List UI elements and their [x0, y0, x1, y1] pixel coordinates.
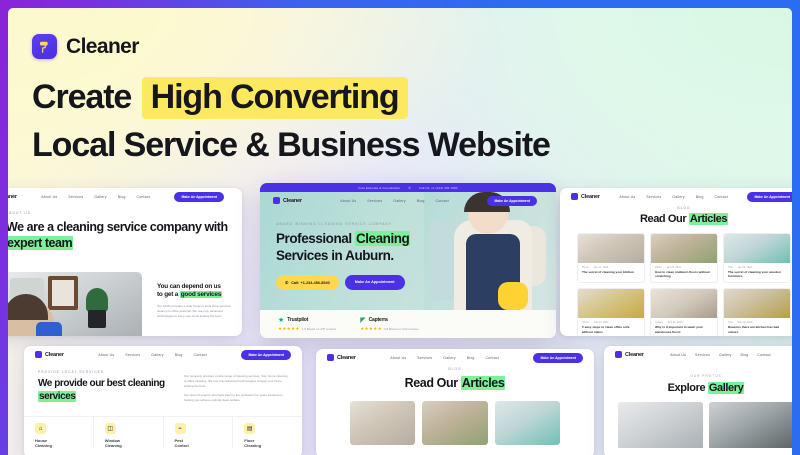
- mini-brand[interactable]: Cleaner: [327, 354, 356, 361]
- mini-nav: Cleaner About Us Services Gallery Blog C…: [560, 188, 792, 205]
- template-card-about[interactable]: Cleaner About Us Services Gallery Blog C…: [8, 188, 242, 336]
- mini-brand-name: Cleaner: [625, 352, 644, 358]
- blog-title: Read Our Articles: [560, 213, 792, 225]
- blog-title: Read Our Articles: [316, 376, 594, 390]
- template-card-gallery[interactable]: Cleaner About Us Services Gallery Blog C…: [604, 346, 792, 455]
- article-tag: Office: [655, 266, 661, 269]
- gallery-eyebrow: OUR PHOTOS: [604, 374, 792, 378]
- hero-section: Cleaner Create High Converting Local Ser…: [8, 8, 792, 183]
- nav-link-services[interactable]: Services: [646, 195, 661, 199]
- nav-link-services[interactable]: Services: [68, 195, 83, 199]
- nav-link-blog[interactable]: Blog: [740, 353, 748, 357]
- article-photo: [651, 289, 717, 318]
- appointment-button[interactable]: Make An Appointment: [174, 192, 224, 202]
- headline-highlight: High Converting: [142, 77, 408, 119]
- article-card[interactable]: OfficeJan 18, 2024 How to clean stubborn…: [650, 233, 718, 283]
- home-eyebrow: AWARD WINNING CLEANING SERVICE COMPANY: [276, 222, 446, 226]
- mini-topbar: Free Estimate & Consultation ✆ Call Us: …: [260, 183, 556, 192]
- services-body-1: Our company provides a wide range of cle…: [184, 374, 288, 389]
- depend-line-2-mark: good services: [180, 291, 222, 298]
- nav-link-blog[interactable]: Blog: [417, 199, 425, 203]
- star-icon: ★: [278, 317, 284, 324]
- about-eyebrow: ABOUT US: [8, 211, 242, 215]
- house-icon: ⌂: [35, 423, 46, 434]
- about-heading-block: ABOUT US We are a cleaning service compa…: [8, 205, 242, 251]
- gallery-title-mark: Gallery: [708, 382, 745, 394]
- review-badges: ★ Trustpilot ★★★★★ 4.9 Based on 475 revi…: [260, 310, 556, 338]
- nav-link-services[interactable]: Services: [695, 353, 710, 357]
- gallery-title: Explore Gallery: [604, 382, 792, 394]
- mini-brand[interactable]: Cleaner: [35, 351, 64, 358]
- mini-nav: Cleaner About Us Services Gallery Blog C…: [260, 192, 556, 209]
- capterra-name: Capterra: [369, 317, 388, 323]
- services-title-mark: services: [38, 391, 76, 402]
- home-title-pre: Professional: [276, 231, 355, 246]
- depend-line-2: to get a good services: [157, 291, 233, 299]
- paint-roller-icon: [273, 197, 280, 204]
- gallery-grid: [604, 402, 792, 448]
- nav-link-about[interactable]: About Us: [390, 356, 406, 360]
- brand-name: Cleaner: [66, 35, 139, 59]
- article-photo: [495, 401, 560, 445]
- blog-eyebrow: BLOG: [316, 367, 594, 371]
- mini-brand[interactable]: Cleaner: [273, 197, 302, 204]
- about-photo: [8, 272, 142, 336]
- about-title-pre: We are a cleaning service company with: [8, 220, 228, 234]
- about-title-mark: expert team: [8, 236, 73, 250]
- article-date: Jan 18, 2024: [666, 266, 680, 269]
- headline-pre: Create: [32, 78, 131, 116]
- depend-line-1: You can depend on us: [157, 283, 233, 291]
- mini-nav-links: About Us Services Gallery Blog Contact: [670, 353, 771, 357]
- template-card-services[interactable]: Cleaner About Us Services Gallery Blog C…: [24, 346, 302, 455]
- template-preview-grid: Cleaner About Us Services Gallery Blog C…: [8, 183, 792, 455]
- nav-link-contact[interactable]: Contact: [486, 356, 499, 360]
- gallery-photo[interactable]: [618, 402, 703, 448]
- nav-link-contact[interactable]: Contact: [436, 199, 449, 203]
- article-tag: Home: [582, 266, 589, 269]
- appointment-button[interactable]: Make An Appointment: [747, 192, 792, 202]
- article-headline: Reasons there are kitchen has bad odours: [724, 324, 790, 336]
- topbar-note: Free Estimate & Consultation: [358, 186, 400, 190]
- page-canvas: Cleaner Create High Converting Local Ser…: [8, 8, 792, 455]
- paint-roller-icon: [327, 354, 334, 361]
- service-name: FloorCleaning: [244, 438, 302, 449]
- nav-link-gallery[interactable]: Gallery: [151, 353, 163, 357]
- template-card-home[interactable]: Free Estimate & Consultation ✆ Call Us: …: [260, 183, 556, 338]
- article-date: Feb 11, 2024: [668, 321, 683, 324]
- service-item[interactable]: ⌂ HouseCleaning: [24, 417, 94, 449]
- article-tag: Tips: [728, 321, 733, 324]
- capterra-badge: ◤ Capterra ★★★★★ 4.8 Based on 310 review…: [360, 317, 418, 332]
- blog-title-mark: Articles: [689, 213, 728, 225]
- service-name: PestControl: [175, 438, 233, 449]
- nav-link-about[interactable]: About Us: [41, 195, 57, 199]
- mini-nav: Cleaner About Us Services Gallery Blog C…: [24, 346, 302, 363]
- mini-nav-links: About Us Services Gallery Blog Contact: [390, 356, 499, 360]
- mini-brand-name: Cleaner: [45, 352, 64, 358]
- mini-nav-links: About Us Services Gallery Blog Contact: [98, 353, 207, 357]
- article-tag: Home: [582, 321, 589, 324]
- article-photo: [724, 289, 790, 318]
- paint-roller-icon: [32, 34, 57, 59]
- article-photo: [578, 234, 644, 263]
- service-item[interactable]: ⌁ PestControl: [164, 417, 234, 449]
- nav-link-services[interactable]: Services: [367, 199, 382, 203]
- nav-link-gallery[interactable]: Gallery: [393, 199, 405, 203]
- nav-link-contact[interactable]: Contact: [194, 353, 207, 357]
- gallery-photo[interactable]: [709, 402, 792, 448]
- mini-brand-name: Cleaner: [581, 194, 600, 200]
- about-title: We are a cleaning service company with e…: [8, 219, 242, 251]
- nav-link-gallery[interactable]: Gallery: [443, 356, 455, 360]
- nav-link-contact[interactable]: Contact: [137, 195, 150, 199]
- template-card-blog-right[interactable]: Cleaner About Us Services Gallery Blog C…: [560, 188, 792, 336]
- floor-icon: ▤: [244, 423, 255, 434]
- article-date: Feb 02, 2024: [594, 321, 609, 324]
- services-body-2: Our team of experts who have been in the…: [184, 393, 288, 403]
- mini-brand[interactable]: Cleaner: [8, 193, 17, 200]
- article-headline: The secret of cleaning your kitchen: [578, 269, 644, 278]
- home-title-mark: Cleaning: [355, 231, 410, 246]
- appointment-button[interactable]: Make An Appointment: [487, 196, 537, 206]
- nav-link-gallery[interactable]: Gallery: [94, 195, 106, 199]
- article-photo: [350, 401, 415, 445]
- mini-brand[interactable]: Cleaner: [615, 351, 644, 358]
- article-headline: 5 easy steps to clean office sofa withou…: [578, 324, 644, 336]
- home-title: Professional Cleaning Services in Auburn…: [276, 231, 446, 264]
- nav-link-contact[interactable]: Contact: [715, 195, 728, 199]
- home-hero-copy: AWARD WINNING CLEANING SERVICE COMPANY P…: [276, 222, 446, 290]
- blog-title-pre: Read Our: [405, 376, 461, 390]
- nav-link-blog[interactable]: Blog: [175, 353, 183, 357]
- nav-link-blog[interactable]: Blog: [467, 356, 475, 360]
- home-cta-row: ✆ Call: +1-234-456-8940 Make An Appointm…: [276, 275, 446, 290]
- trustpilot-name: Trustpilot: [287, 317, 308, 323]
- service-list: ⌂ HouseCleaning ◫ WindowCleaning ⌁: [24, 416, 302, 449]
- article-tag: Tips: [728, 266, 733, 269]
- article-card[interactable]: [495, 401, 560, 445]
- mini-nav: Cleaner About Us Services Gallery Blog C…: [316, 349, 594, 366]
- services-title: We provide our best cleaning services: [38, 378, 170, 403]
- services-intro: PROVIDE LOCAL SERVICES We provide our be…: [24, 363, 302, 407]
- call-button-label: Call: +1-234-456-8940: [291, 281, 330, 285]
- article-grid: HomeJan 12, 2024 The secret of cleaning …: [560, 233, 792, 336]
- depend-line-2-pre: to get a: [157, 291, 180, 298]
- article-card[interactable]: GuidesFeb 11, 2024 Why is it important t…: [650, 288, 718, 336]
- depend-body: Our 100% provides a wide range of local …: [157, 304, 233, 319]
- topbar-phone: Call Us: +1 (123) 456-7890: [419, 186, 458, 190]
- capterra-rating: 4.8 Based on 310 reviews: [384, 327, 419, 331]
- capterra-stars: ★★★★★: [360, 326, 382, 332]
- paint-roller-icon: [35, 351, 42, 358]
- paint-roller-icon: [571, 193, 578, 200]
- gradient-frame: Cleaner Create High Converting Local Ser…: [0, 0, 800, 455]
- spray-icon: ⌁: [175, 423, 186, 434]
- mini-nav-links: About Us Services Gallery Blog Contact: [619, 195, 728, 199]
- nav-link-about[interactable]: About Us: [340, 199, 356, 203]
- trustpilot-rating: 4.9 Based on 475 reviews: [302, 327, 337, 331]
- nav-link-about[interactable]: About Us: [98, 353, 114, 357]
- hero-headline: Create High Converting Local Service & B…: [32, 76, 772, 166]
- service-item[interactable]: ▤ FloorCleaning: [233, 417, 302, 449]
- article-date: Jan 24, 2024: [738, 266, 752, 269]
- services-body: Our company provides a wide range of cle…: [184, 370, 288, 407]
- article-photo: [422, 401, 487, 445]
- service-name: HouseCleaning: [35, 438, 93, 449]
- blog-title-pre: Read Our: [640, 213, 689, 225]
- home-hero-stage: Cleaner About Us Services Gallery Blog C…: [260, 192, 556, 310]
- article-photo: [578, 289, 644, 318]
- blog-title-mark: Articles: [461, 376, 506, 390]
- capterra-icon: ◤: [360, 317, 365, 324]
- brand-logo[interactable]: Cleaner: [32, 34, 139, 59]
- trustpilot-badge: ★ Trustpilot ★★★★★ 4.9 Based on 475 revi…: [278, 317, 336, 332]
- appointment-button[interactable]: Make An Appointment: [533, 353, 583, 363]
- service-item[interactable]: ◫ WindowCleaning: [94, 417, 164, 449]
- depend-block: You can depend on us to get a good servi…: [157, 283, 233, 319]
- mini-nav: Cleaner About Us Services Gallery Blog C…: [604, 346, 792, 363]
- article-date: Feb 19, 2024: [738, 321, 753, 324]
- services-title-pre: We provide our best cleaning: [38, 378, 165, 389]
- template-card-blog-bottom[interactable]: Cleaner About Us Services Gallery Blog C…: [316, 349, 594, 455]
- mini-brand-name: Cleaner: [8, 194, 17, 200]
- headline-line-2: Local Service & Business Website: [32, 124, 772, 166]
- article-date: Jan 12, 2024: [594, 266, 608, 269]
- article-card[interactable]: HomeFeb 02, 2024 5 easy steps to clean o…: [577, 288, 645, 336]
- article-card[interactable]: [422, 401, 487, 445]
- nav-link-blog[interactable]: Blog: [118, 195, 126, 199]
- nav-link-gallery[interactable]: Gallery: [672, 195, 684, 199]
- call-button[interactable]: ✆ Call: +1-234-456-8940: [276, 275, 339, 290]
- blog-eyebrow: BLOG: [560, 206, 792, 210]
- mini-brand-name: Cleaner: [337, 355, 356, 361]
- home-title-post: Services in Auburn.: [276, 248, 394, 263]
- article-headline: The secret of cleaning your wooden furni…: [724, 269, 790, 282]
- nav-link-about[interactable]: About Us: [670, 353, 686, 357]
- mini-nav-links: About Us Services Gallery Blog Contact: [41, 195, 150, 199]
- paint-roller-icon: [615, 351, 622, 358]
- appointment-button[interactable]: Make An Appointment: [345, 275, 405, 290]
- article-headline: How to clean stubborn floors without scr…: [651, 269, 717, 282]
- nav-link-gallery[interactable]: Gallery: [719, 353, 731, 357]
- article-grid: [316, 401, 594, 445]
- mini-brand[interactable]: Cleaner: [571, 193, 600, 200]
- appointment-button[interactable]: Make An Appointment: [241, 350, 291, 360]
- gallery-title-pre: Explore: [668, 382, 708, 394]
- article-tag: Guides: [655, 321, 663, 324]
- article-headline: Why is it important to wash your warehou…: [651, 324, 717, 336]
- nav-link-services[interactable]: Services: [125, 353, 140, 357]
- phone-icon: ✆: [285, 280, 288, 285]
- article-card[interactable]: HomeJan 12, 2024 The secret of cleaning …: [577, 233, 645, 283]
- headline-line-1: Create High Converting: [32, 76, 772, 118]
- nav-link-blog[interactable]: Blog: [696, 195, 704, 199]
- phone-icon: ✆: [408, 186, 411, 190]
- article-card[interactable]: [350, 401, 415, 445]
- nav-link-services[interactable]: Services: [417, 356, 432, 360]
- window-icon: ◫: [105, 423, 116, 434]
- article-card[interactable]: TipsJan 24, 2024 The secret of cleaning …: [723, 233, 791, 283]
- article-photo: [651, 234, 717, 263]
- article-card[interactable]: TipsFeb 19, 2024 Reasons there are kitch…: [723, 288, 791, 336]
- nav-link-about[interactable]: About Us: [619, 195, 635, 199]
- trustpilot-stars: ★★★★★: [278, 326, 300, 332]
- article-photo: [724, 234, 790, 263]
- mini-brand-name: Cleaner: [283, 198, 302, 204]
- services-eyebrow: PROVIDE LOCAL SERVICES: [38, 370, 170, 374]
- nav-link-contact[interactable]: Contact: [757, 353, 770, 357]
- service-name: WindowCleaning: [105, 438, 163, 449]
- mini-nav-links: About Us Services Gallery Blog Contact: [340, 199, 449, 203]
- mini-nav: Cleaner About Us Services Gallery Blog C…: [8, 188, 242, 205]
